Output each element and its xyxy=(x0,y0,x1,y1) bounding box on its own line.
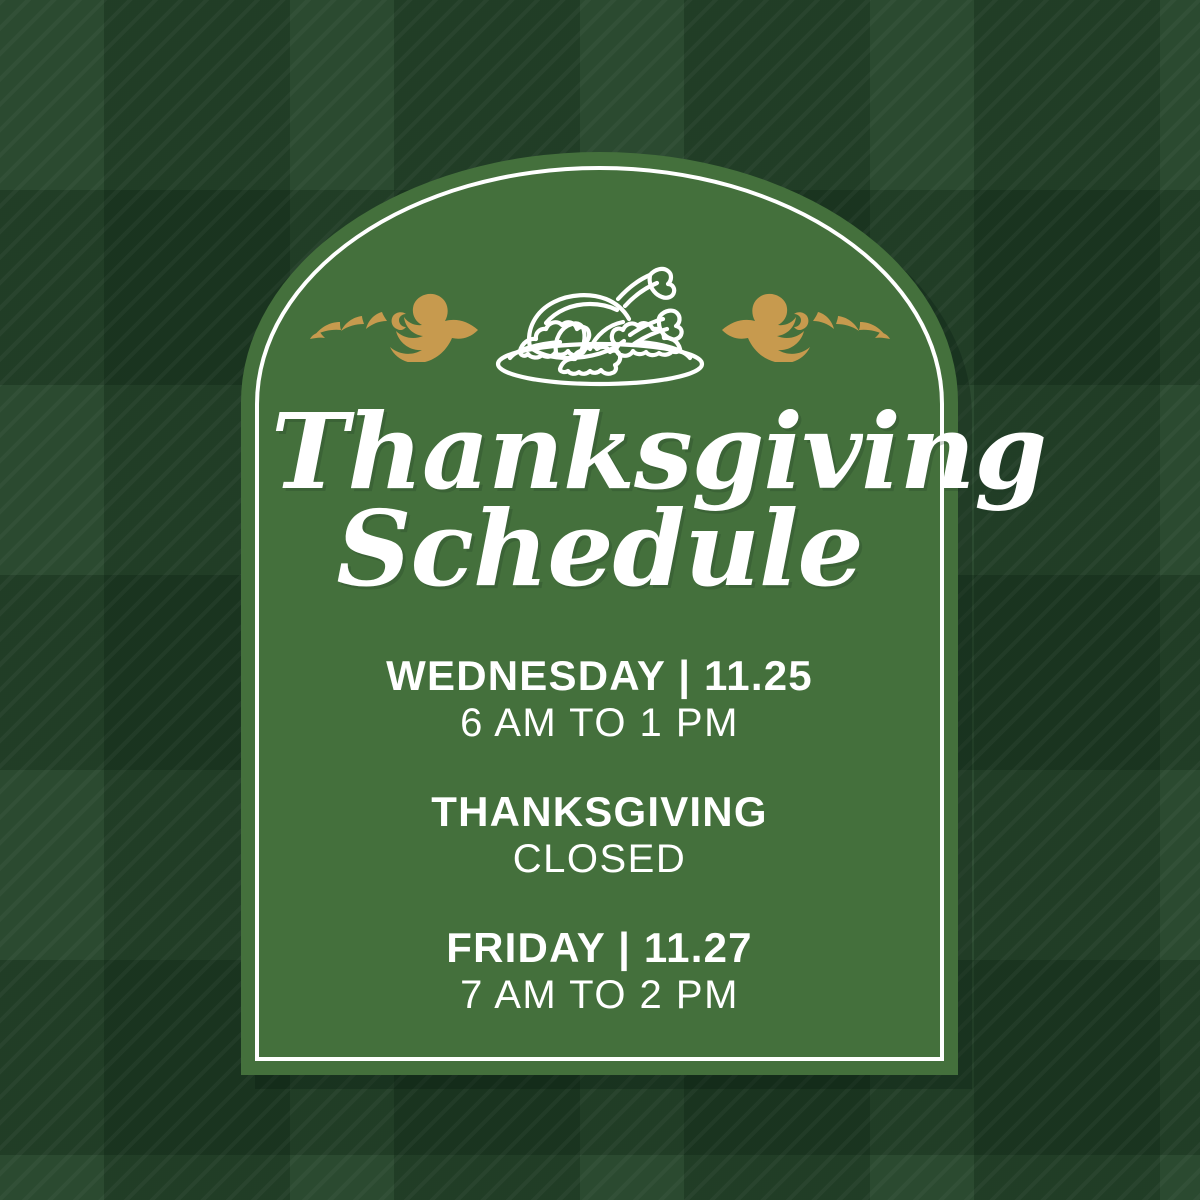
schedule-list: WEDNESDAY | 11.25 6 AM TO 1 PM THANKSGIV… xyxy=(281,652,918,1019)
page-title: Thanksgiving Schedule xyxy=(271,404,928,597)
schedule-entry: FRIDAY | 11.27 7 AM TO 2 PM xyxy=(281,924,918,1020)
flourish-swirl-right-icon xyxy=(720,292,890,362)
title-line-2: Schedule xyxy=(271,501,928,598)
schedule-hours-label: 6 AM TO 1 PM xyxy=(281,699,918,748)
roast-turkey-platter-icon xyxy=(484,265,716,390)
schedule-day-label: WEDNESDAY | 11.25 xyxy=(281,652,918,699)
schedule-day-label: FRIDAY | 11.27 xyxy=(281,924,918,971)
sign-card: Thanksgiving Schedule WEDNESDAY | 11.25 … xyxy=(241,152,958,1075)
schedule-entry: WEDNESDAY | 11.25 6 AM TO 1 PM xyxy=(281,652,918,748)
schedule-day-label: THANKSGIVING xyxy=(281,788,918,835)
ornament-row xyxy=(241,262,958,392)
schedule-hours-label: 7 AM TO 2 PM xyxy=(281,971,918,1020)
thanksgiving-schedule-poster: Thanksgiving Schedule WEDNESDAY | 11.25 … xyxy=(0,0,1200,1200)
schedule-hours-label: CLOSED xyxy=(281,835,918,884)
flourish-swirl-left-icon xyxy=(310,292,480,362)
schedule-entry: THANKSGIVING CLOSED xyxy=(281,788,918,884)
